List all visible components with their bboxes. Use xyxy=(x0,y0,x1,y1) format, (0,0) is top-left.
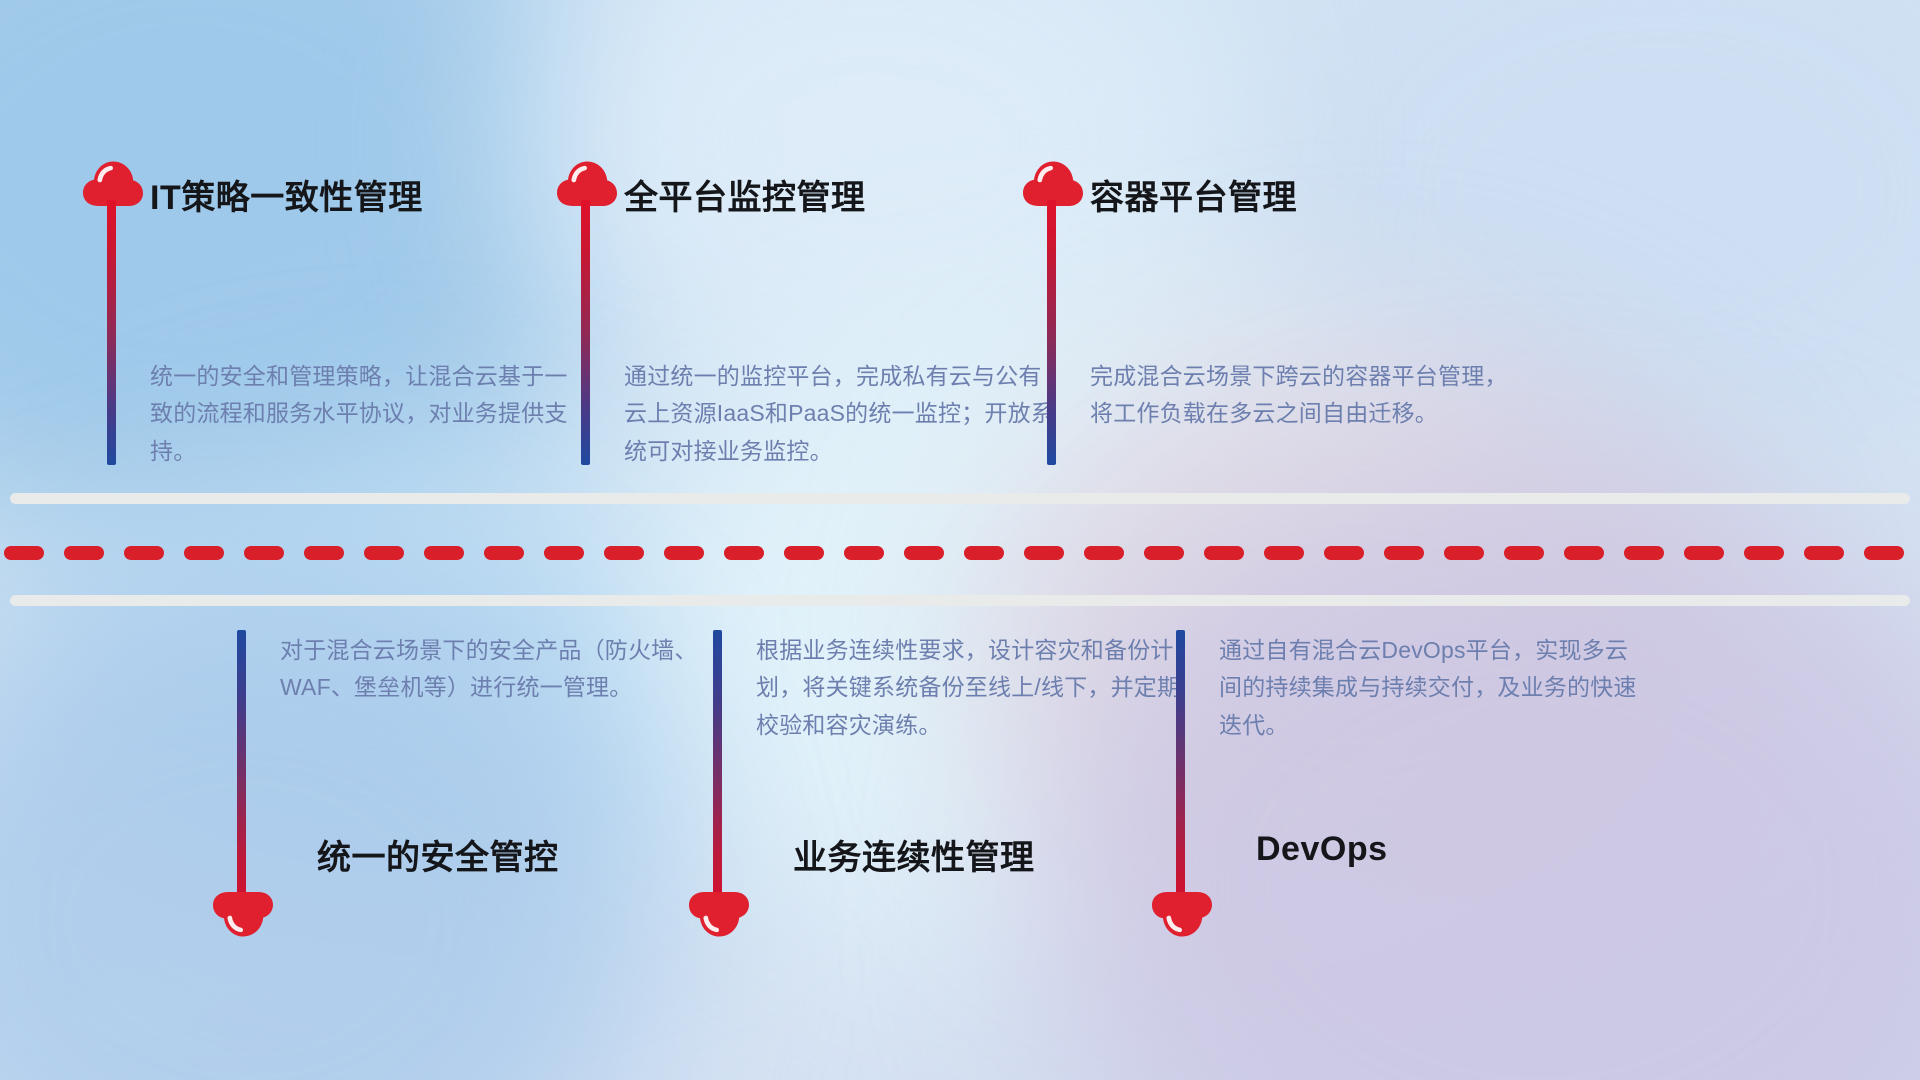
divider-dash xyxy=(964,546,1004,560)
bg-blob-top-left xyxy=(0,0,640,560)
divider-dash xyxy=(1684,546,1724,560)
divider-dash xyxy=(484,546,524,560)
divider-dash xyxy=(1504,546,1544,560)
divider-dash xyxy=(724,546,764,560)
background-blobs xyxy=(0,0,1920,1080)
cloud-icon xyxy=(688,890,750,938)
divider-rail-bottom xyxy=(10,595,1910,606)
top-column-3-body: 完成混合云场景下跨云的容器平台管理，将工作负载在多云之间自由迁移。 xyxy=(1090,358,1520,433)
connector-stem xyxy=(1176,630,1185,895)
divider-dash xyxy=(1864,546,1904,560)
divider-dash xyxy=(1444,546,1484,560)
bottom-column-2-body: 根据业务连续性要求，设计容灾和备份计划，将关键系统备份至线上/线下，并定期校验和… xyxy=(756,632,1186,744)
divider-dash xyxy=(1564,546,1604,560)
divider-dash xyxy=(1084,546,1124,560)
divider-dash xyxy=(4,546,44,560)
divider-dash xyxy=(784,546,824,560)
divider-dash xyxy=(1804,546,1844,560)
cloud-icon xyxy=(1151,890,1213,938)
divider-dash xyxy=(184,546,224,560)
background-gradient xyxy=(0,0,1920,1080)
divider-dashed-line xyxy=(0,546,1920,560)
connector-stem xyxy=(107,200,116,465)
bottom-column-1-title: 统一的安全管控 xyxy=(317,830,559,879)
cloud-icon xyxy=(212,890,274,938)
divider-dash xyxy=(1624,546,1664,560)
bg-blob-bottom-right xyxy=(1040,480,1920,1080)
connector-stem xyxy=(713,630,722,895)
bottom-column-2-title: 业务连续性管理 xyxy=(793,830,1035,879)
bottom-column-3-title: DevOps xyxy=(1256,830,1388,869)
divider-dash xyxy=(844,546,884,560)
divider-dash xyxy=(1024,546,1064,560)
top-column-1-title: IT策略一致性管理 xyxy=(150,170,423,219)
top-column-2-body: 通过统一的监控平台，完成私有云与公有云上资源IaaS和PaaS的统一监控；开放系… xyxy=(624,358,1054,470)
divider-dash xyxy=(1324,546,1364,560)
divider-dash xyxy=(1204,546,1244,560)
divider-rail-top xyxy=(10,493,1910,504)
divider-dash xyxy=(544,546,584,560)
top-column-2-title: 全平台监控管理 xyxy=(624,170,866,219)
divider-dash xyxy=(124,546,164,560)
bg-blob-top-right xyxy=(1220,0,1920,540)
connector-stem xyxy=(581,200,590,465)
divider-dash xyxy=(664,546,704,560)
divider-dash xyxy=(1144,546,1184,560)
divider-dash xyxy=(304,546,344,560)
connector-stem xyxy=(237,630,246,895)
divider-dash xyxy=(604,546,644,560)
divider-dash xyxy=(364,546,404,560)
top-column-1-body: 统一的安全和管理策略，让混合云基于一致的流程和服务水平协议，对业务提供支持。 xyxy=(150,358,580,470)
divider-dash xyxy=(1264,546,1304,560)
divider-dash xyxy=(424,546,464,560)
divider-dash xyxy=(1384,546,1424,560)
divider-dash xyxy=(64,546,104,560)
divider-dash xyxy=(244,546,284,560)
bottom-column-1-body: 对于混合云场景下的安全产品（防火墙、WAF、堡垒机等）进行统一管理。 xyxy=(280,632,710,707)
connector-stem xyxy=(1047,200,1056,465)
top-column-3-title: 容器平台管理 xyxy=(1090,170,1297,219)
divider-dash xyxy=(1744,546,1784,560)
infographic-canvas: IT策略一致性管理 统一的安全和管理策略，让混合云基于一致的流程和服务水平协议，… xyxy=(0,0,1920,1080)
divider-dash xyxy=(904,546,944,560)
bottom-column-3-body: 通过自有混合云DevOps平台，实现多云间的持续集成与持续交付，及业务的快速迭代… xyxy=(1219,632,1649,744)
